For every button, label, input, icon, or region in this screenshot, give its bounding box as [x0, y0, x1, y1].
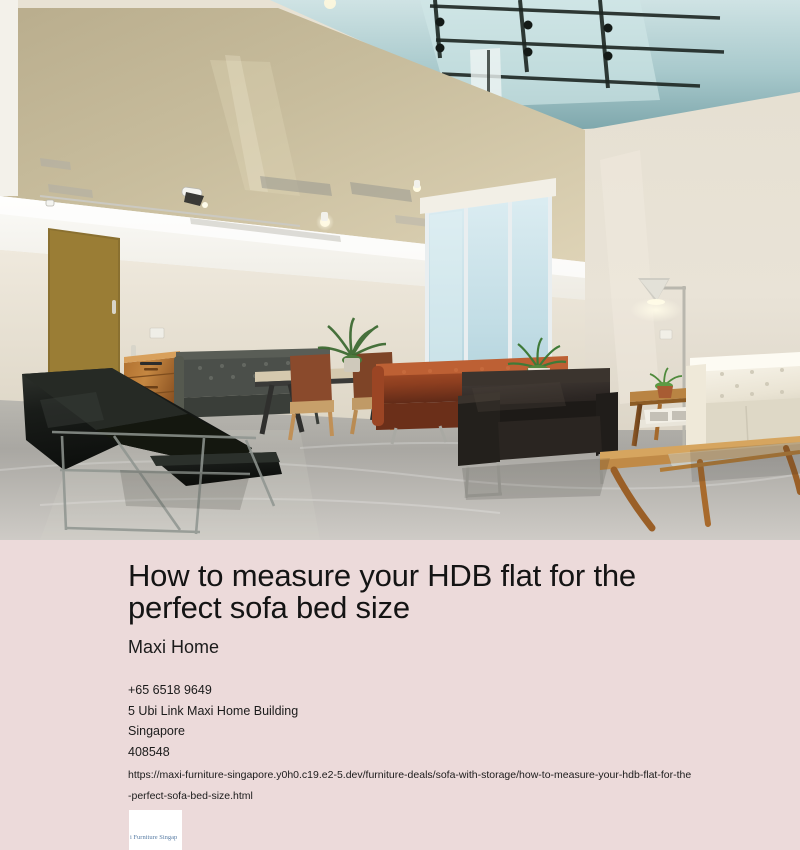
footer-card-label: i Furniture Singap — [129, 833, 182, 842]
footer-card-thumbnail — [129, 810, 182, 832]
contact-country: Singapore — [128, 721, 680, 742]
footer-preview-card[interactable]: i Furniture Singap — [129, 810, 182, 850]
article-info-panel: How to measure your HDB flat for the per… — [0, 540, 800, 840]
showroom-illustration — [0, 0, 800, 540]
contact-address: 5 Ubi Link Maxi Home Building — [128, 701, 680, 722]
site-url[interactable]: https://maxi-furniture-singapore.y0h0.c1… — [128, 765, 694, 807]
organization-name: Maxi Home — [128, 636, 680, 658]
contact-phone[interactable]: +65 6518 9649 — [128, 680, 680, 701]
contact-block: +65 6518 9649 5 Ubi Link Maxi Home Build… — [128, 680, 680, 762]
hero-image — [0, 0, 800, 540]
page-title: How to measure your HDB flat for the per… — [128, 560, 680, 624]
contact-postal-code: 408548 — [128, 742, 680, 763]
